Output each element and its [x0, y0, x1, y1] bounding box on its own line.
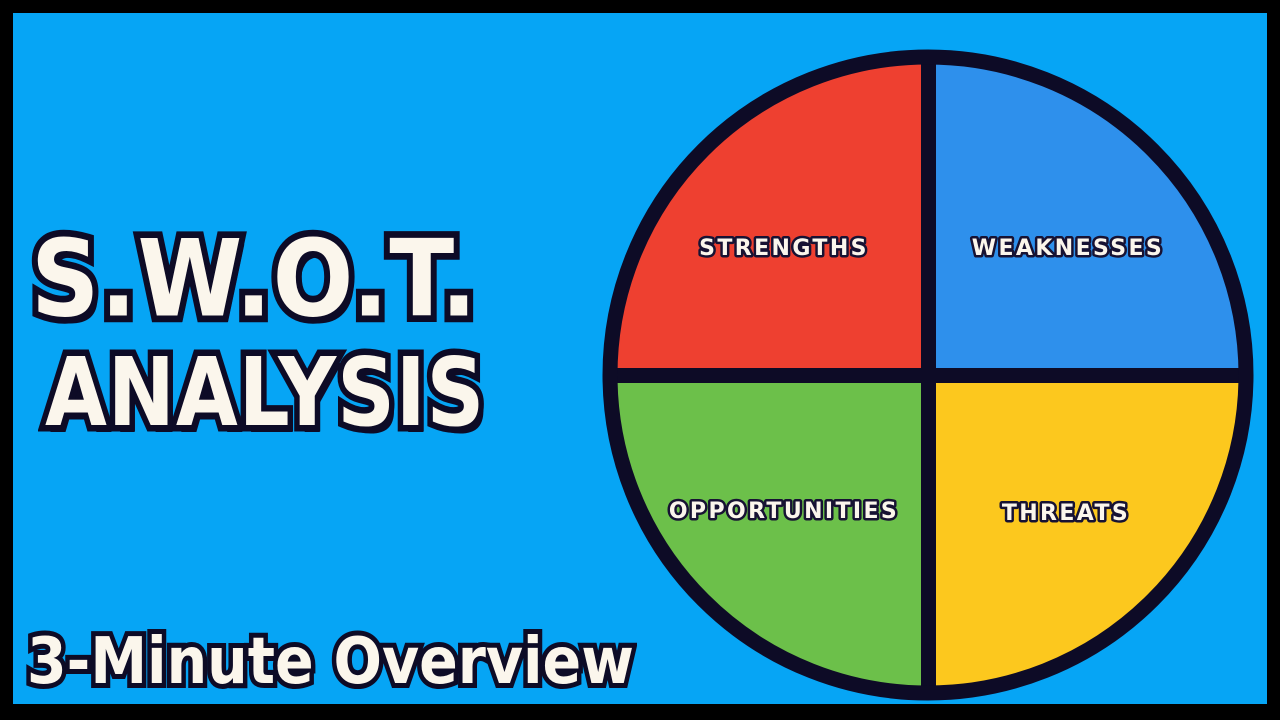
- thumbnail-canvas: S.W.O.T. ANALYSIS 3-Minute Overview: [0, 0, 1280, 720]
- divider-vertical: [921, 28, 936, 704]
- subtitle-caption: 3-Minute Overview: [27, 625, 634, 691]
- quadrant-label-opportunities: OPPORTUNITIES: [669, 499, 899, 524]
- caption-text: 3-Minute Overview: [27, 625, 634, 699]
- title-line-analysis: ANALYSIS: [45, 347, 611, 440]
- quadrant-label-threats: THREATS: [1002, 501, 1130, 526]
- title-line-swot: S.W.O.T.: [31, 228, 611, 332]
- quadrant-label-strengths: STRENGTHS: [699, 236, 869, 261]
- slide-background: S.W.O.T. ANALYSIS 3-Minute Overview: [13, 13, 1267, 704]
- divider-horizontal: [598, 368, 1267, 383]
- swot-wheel: STRENGTHS WEAKNESSES OPPORTUNITIES THREA…: [598, 28, 1267, 704]
- quadrant-threats-fill[interactable]: [928, 375, 1267, 704]
- quadrant-strengths-fill[interactable]: [598, 28, 928, 375]
- page-title: S.W.O.T. ANALYSIS: [31, 228, 611, 425]
- quadrant-weaknesses-fill[interactable]: [928, 28, 1267, 375]
- quadrant-label-weaknesses: WEAKNESSES: [972, 236, 1164, 261]
